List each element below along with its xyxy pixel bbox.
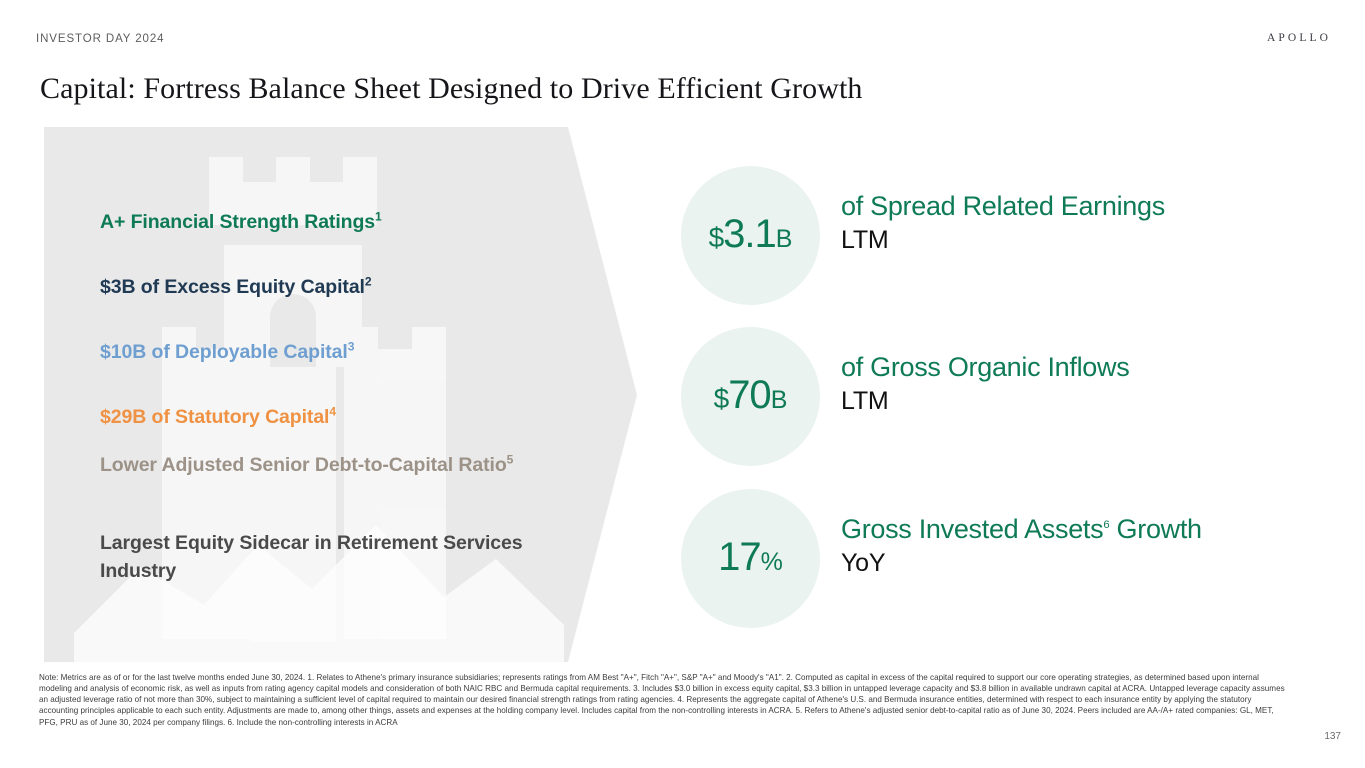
stat-subline: LTM — [841, 386, 1311, 417]
stat-text: Gross Invested Assets6 GrowthYoY — [841, 513, 1311, 580]
stat-unit: B — [771, 386, 788, 414]
stat-unit: % — [761, 548, 783, 576]
fact-item-4: $29B of Statutory Capital4 — [100, 404, 336, 432]
fact-item-2: $3B of Excess Equity Capital2 — [100, 274, 372, 302]
page-title: Capital: Fortress Balance Sheet Designed… — [40, 72, 863, 106]
stat-headline-text: Gross Invested Assets — [841, 514, 1103, 544]
stat-circle-spread-related-earnings: $3.1B — [681, 166, 820, 305]
stat-currency-symbol: $ — [714, 383, 729, 414]
apollo-logo: APOLLO — [1267, 32, 1331, 44]
fact-label: $10B of Deployable Capital — [100, 341, 348, 363]
stat-currency-symbol: $ — [709, 222, 724, 253]
stat-value: 17% — [718, 535, 783, 580]
stat-subline: YoY — [841, 548, 1311, 579]
stat-value: $70B — [714, 373, 788, 418]
stat-headline-text: of Spread Related Earnings — [841, 191, 1165, 221]
stat-text: of Gross Organic InflowsLTM — [841, 351, 1311, 418]
stat-circle-gross-invested-assets-growth: 17% — [681, 489, 820, 628]
stat-headline: Gross Invested Assets6 Growth — [841, 513, 1311, 545]
stat-headline-text: of Gross Organic Inflows — [841, 352, 1129, 382]
stat-headline: of Spread Related Earnings — [841, 190, 1311, 222]
fortress-panel: A+ Financial Strength Ratings1$3B of Exc… — [44, 127, 644, 662]
stat-circle-gross-organic-inflows: $70B — [681, 327, 820, 466]
fact-label: $29B of Statutory Capital — [100, 406, 329, 428]
fact-item-1: A+ Financial Strength Ratings1 — [100, 209, 382, 237]
stat-headline-tail: Growth — [1109, 514, 1201, 544]
eyebrow-investor-day: INVESTOR DAY 2024 — [36, 33, 164, 45]
fact-label: Lower Adjusted Senior Debt-to-Capital Ra… — [100, 454, 507, 476]
fact-footnote-marker: 5 — [507, 453, 514, 467]
fortress-fact-list: A+ Financial Strength Ratings1$3B of Exc… — [100, 127, 570, 662]
stat-row-gross-invested-assets-growth: 17%Gross Invested Assets6 GrowthYoY — [681, 489, 1321, 629]
page-number: 137 — [1324, 731, 1341, 742]
fact-label: A+ Financial Strength Ratings — [100, 211, 375, 233]
stat-number: 17 — [718, 535, 761, 579]
fact-footnote-marker: 3 — [348, 340, 355, 354]
stat-unit: B — [776, 225, 793, 253]
stat-number: 3.1 — [723, 212, 776, 256]
fact-footnote-marker: 4 — [329, 405, 336, 419]
fact-footnote-marker: 2 — [365, 275, 372, 289]
stat-row-gross-organic-inflows: $70Bof Gross Organic InflowsLTM — [681, 327, 1321, 467]
fact-label: Largest Equity Sidecar in Retirement Ser… — [100, 532, 523, 582]
footnotes: Note: Metrics are as of or for the last … — [39, 672, 1287, 728]
fact-item-6: Largest Equity Sidecar in Retirement Ser… — [100, 530, 570, 585]
stat-row-spread-related-earnings: $3.1Bof Spread Related EarningsLTM — [681, 166, 1321, 306]
fact-label: $3B of Excess Equity Capital — [100, 276, 365, 298]
fact-footnote-marker: 1 — [375, 210, 382, 224]
stat-headline: of Gross Organic Inflows — [841, 351, 1311, 383]
stat-text: of Spread Related EarningsLTM — [841, 190, 1311, 257]
stat-value: $3.1B — [709, 212, 793, 257]
stat-subline: LTM — [841, 225, 1311, 256]
fact-item-5: Lower Adjusted Senior Debt-to-Capital Ra… — [100, 452, 513, 480]
fact-item-3: $10B of Deployable Capital3 — [100, 339, 354, 367]
stat-number: 70 — [728, 373, 771, 417]
